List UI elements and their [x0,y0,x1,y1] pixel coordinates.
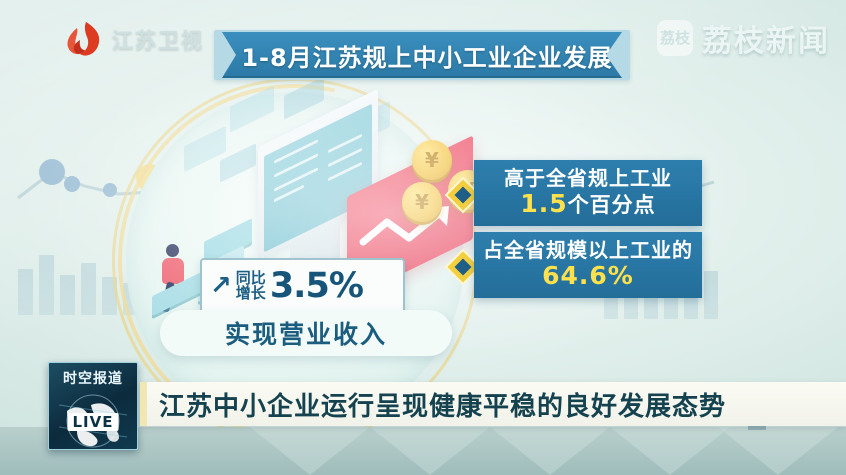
info-box-1-value: 1.5 [520,189,567,218]
growth-label-line2: 增长 [236,286,266,301]
info-box-1-line2: 1.5个百分点 [520,190,655,219]
title-text: 1-8月江苏规上中小工业企业发展 [231,38,612,73]
jiangsu-tv-flame-icon [62,20,104,60]
caption-text: 实现营业收入 [225,315,387,351]
news-brand: 荔枝 荔枝新闻 [657,16,830,60]
info-box-1-suffix: 个百分点 [568,193,656,217]
person-body [162,258,184,284]
bottom-chevron [610,427,730,475]
info-box-1-line1: 高于全省规上工业 [504,167,672,190]
yen-coin-icon: ¥ [402,182,442,222]
info-box-percentage-point: 高于全省规上工业 1.5个百分点 [474,160,702,226]
channel-name: 江苏卫视 [112,25,204,55]
bottom-chevron [718,427,838,475]
info-box-share: 占全省规模以上工业的 64.6% [474,232,702,298]
info-box-2-line1: 占全省规模以上工业的 [483,239,693,262]
growth-label: 同比 增长 [236,271,266,302]
channel-logo: 江苏卫视 [62,20,204,60]
headline-bar: 江苏中小企业运行呈现健康平稳的良好发展态势 [140,382,846,426]
live-indicator: LIVE [68,413,119,431]
live-badge: 时空报道 LIVE [48,362,138,450]
yen-coin-icon: ¥ [412,140,452,180]
growth-value: 3.5% [270,269,363,304]
info-box-2-value: 64.6% [542,261,634,290]
bottom-chevron [370,427,490,475]
person-sitting-icon [166,244,179,257]
headline-text: 江苏中小企业运行呈现健康平稳的良好发展态势 [147,386,726,423]
up-arrow-icon: ↗ [210,273,232,299]
growth-badge: ↗ 同比 增长 3.5% [200,258,405,314]
broadcast-screenshot: ¥ ¥ ¥ 江苏卫视 荔枝 荔枝新闻 [0,0,846,475]
lizhi-news-logo-icon: 荔枝 [657,20,693,56]
news-brand-name: 荔枝新闻 [702,16,830,60]
bottom-chevron [490,427,610,475]
live-badge-program: 时空报道 [49,368,137,388]
caption-pill: 实现营业收入 [160,310,452,356]
info-box-2-line2: 64.6% [542,262,634,291]
bottom-chevron [250,427,370,475]
title-ribbon: 1-8月江苏规上中小工业企业发展 [222,32,622,78]
